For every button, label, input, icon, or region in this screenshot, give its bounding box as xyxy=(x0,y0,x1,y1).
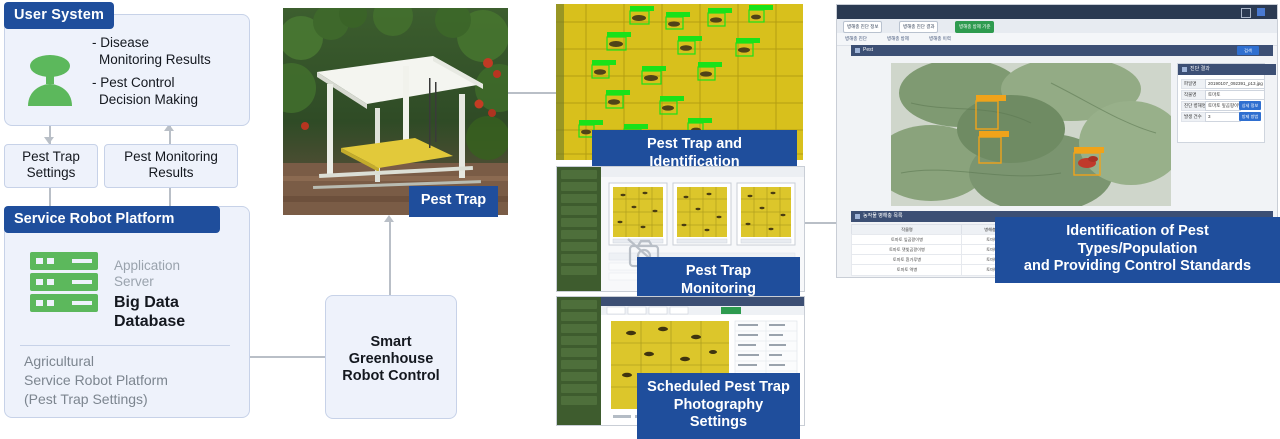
field-value-3: 3 xyxy=(1205,112,1241,122)
field-label-3: 발생 건수 xyxy=(1181,112,1207,122)
srp-footer-label: Agricultural Service Robot Platform (Pes… xyxy=(24,352,244,409)
robot-control-line2: Greenhouse xyxy=(349,351,434,367)
field-value-2: 토마토 잎곰팡이병 xyxy=(1205,101,1241,111)
diagnosis-card-header: 진단 결과 xyxy=(1178,64,1276,75)
identification-line1: Identification of Pest Types/Population xyxy=(1066,223,1209,257)
schedule-sidebar-item-1[interactable] xyxy=(561,312,597,321)
schedule-sidebar-item-8[interactable] xyxy=(561,396,597,405)
tab-pest-control-standard[interactable]: 병해충 방제 기준 xyxy=(955,21,994,33)
srp-footer-line2: Service Robot Platform xyxy=(24,372,168,388)
field-value-0: 20190107_092391_p13.jpg xyxy=(1205,79,1265,89)
toolbar-tab-1[interactable]: 병해충 방제 xyxy=(887,35,909,43)
detail-info-button[interactable]: 상세 정보 xyxy=(1239,101,1261,110)
diagnosis-result-card: 진단 결과 파일명 20190107_092391_p13.jpg 작물명 토마… xyxy=(1177,63,1265,143)
bullet-pest-line2: Decision Making xyxy=(99,91,198,108)
smart-greenhouse-robot-control-box: Smart Greenhouse Robot Control xyxy=(325,295,457,419)
user-system-title: User System xyxy=(4,2,114,29)
schedule-sidebar[interactable] xyxy=(557,297,601,425)
pest-monitoring-results-line2: Results xyxy=(148,165,193,180)
bullet-pest-line1: - Pest Control xyxy=(92,75,175,90)
service-robot-platform-title: Service Robot Platform xyxy=(4,206,220,233)
tab-pest-diagnosis-info[interactable]: 병해충 진단 정보 xyxy=(843,21,882,33)
application-server-line1: Application xyxy=(114,258,180,273)
srp-divider xyxy=(20,345,230,346)
schedule-sidebar-item-7[interactable] xyxy=(561,384,597,393)
identification-line2: and Providing Control Standards xyxy=(1024,258,1251,274)
pest-trap-settings-line1: Pest Trap xyxy=(22,149,80,164)
pest-monitoring-results-line1: Pest Monitoring xyxy=(124,149,218,164)
window-maximize-icon[interactable] xyxy=(1241,8,1251,18)
schedule-sidebar-item-2[interactable] xyxy=(561,324,597,333)
sidebar-item-2[interactable] xyxy=(561,194,597,203)
window-titlebar xyxy=(837,5,1277,19)
bigdata-line2: Database xyxy=(114,313,185,330)
pest-monitoring-results-box: Pest Monitoring Results xyxy=(104,144,238,188)
schedule-sidebar-item-0[interactable] xyxy=(561,300,597,309)
robot-control-line1: Smart xyxy=(370,334,411,350)
connector-arrow-up-trap xyxy=(384,215,394,222)
field-label-1: 작물명 xyxy=(1181,90,1207,100)
table-row[interactable]: 토마토 역병 xyxy=(851,264,963,276)
pest-leaf-image xyxy=(891,63,1171,206)
srp-footer-line3: (Pest Trap Settings) xyxy=(24,391,148,407)
user-system-bullets: - Disease Monitoring Results - Pest Cont… xyxy=(92,34,242,114)
robot-control-line3: Robot Control xyxy=(342,368,439,384)
field-value-1: 토마토 xyxy=(1205,90,1265,100)
bigdata-database-label: Big Data Database xyxy=(114,293,185,331)
bigdata-line1: Big Data xyxy=(114,294,179,311)
schedule-sidebar-item-5[interactable] xyxy=(561,360,597,369)
connector-arrow-down-settings xyxy=(44,137,54,144)
sidebar-item-7[interactable] xyxy=(561,254,597,263)
sidebar-item-8[interactable] xyxy=(561,266,597,275)
connector-srp-to-robot xyxy=(248,356,326,358)
application-server-label: Application Server xyxy=(114,258,180,290)
user-avatar-icon xyxy=(22,44,78,106)
monitoring-sidebar[interactable] xyxy=(557,167,601,291)
bullet-disease-line1: - Disease xyxy=(92,35,149,50)
search-button[interactable]: 검색 xyxy=(1237,46,1259,55)
sidebar-item-5[interactable] xyxy=(561,230,597,239)
pest-trap-photo xyxy=(283,8,508,215)
control-method-button[interactable]: 방제 방법 xyxy=(1239,112,1261,121)
scheduled-photography-line2: Photography Settings xyxy=(674,397,763,431)
tab-pest-diagnosis-result[interactable]: 병해충 진단 결과 xyxy=(899,21,938,33)
window-user-icon[interactable] xyxy=(1257,8,1265,16)
sidebar-item-4[interactable] xyxy=(561,218,597,227)
schedule-sidebar-item-3[interactable] xyxy=(561,336,597,345)
pest-trap-caption: Pest Trap xyxy=(409,186,498,217)
application-server-line2: Server xyxy=(114,274,154,289)
identification-caption: Identification of Pest Types/Population … xyxy=(995,217,1280,283)
schedule-sidebar-item-6[interactable] xyxy=(561,372,597,381)
bullet-disease-line2: Monitoring Results xyxy=(99,51,211,68)
window-tabbar: 병해충 진단 정보 병해충 진단 결과 병해충 방제 기준 xyxy=(837,19,1277,34)
database-server-icon xyxy=(28,250,100,314)
pest-trap-settings-line2: Settings xyxy=(27,165,76,180)
connector-trap-to-identification xyxy=(508,92,557,94)
sidebar-item-3[interactable] xyxy=(561,206,597,215)
connector-settings-to-srp xyxy=(49,186,51,206)
sidebar-item-6[interactable] xyxy=(561,242,597,251)
pest-trap-settings-box: Pest Trap Settings xyxy=(4,144,98,188)
connector-robot-to-trap xyxy=(389,222,391,295)
connector-monitoring-to-identification-panel xyxy=(803,222,837,224)
section-bar-pest: Pest xyxy=(851,45,1273,56)
sidebar-item-0[interactable] xyxy=(561,170,597,179)
field-label-2: 진단 병해명 xyxy=(1181,101,1207,111)
schedule-sidebar-item-4[interactable] xyxy=(561,348,597,357)
sidebar-item-1[interactable] xyxy=(561,182,597,191)
field-label-0: 파일명 xyxy=(1181,79,1207,89)
scheduled-photography-line1: Scheduled Pest Trap xyxy=(647,379,790,395)
toolbar-tab-2[interactable]: 병해충 이력 xyxy=(929,35,951,43)
toolbar-tab-0[interactable]: 병해충 진단 xyxy=(845,35,867,43)
srp-footer-line1: Agricultural xyxy=(24,353,94,369)
